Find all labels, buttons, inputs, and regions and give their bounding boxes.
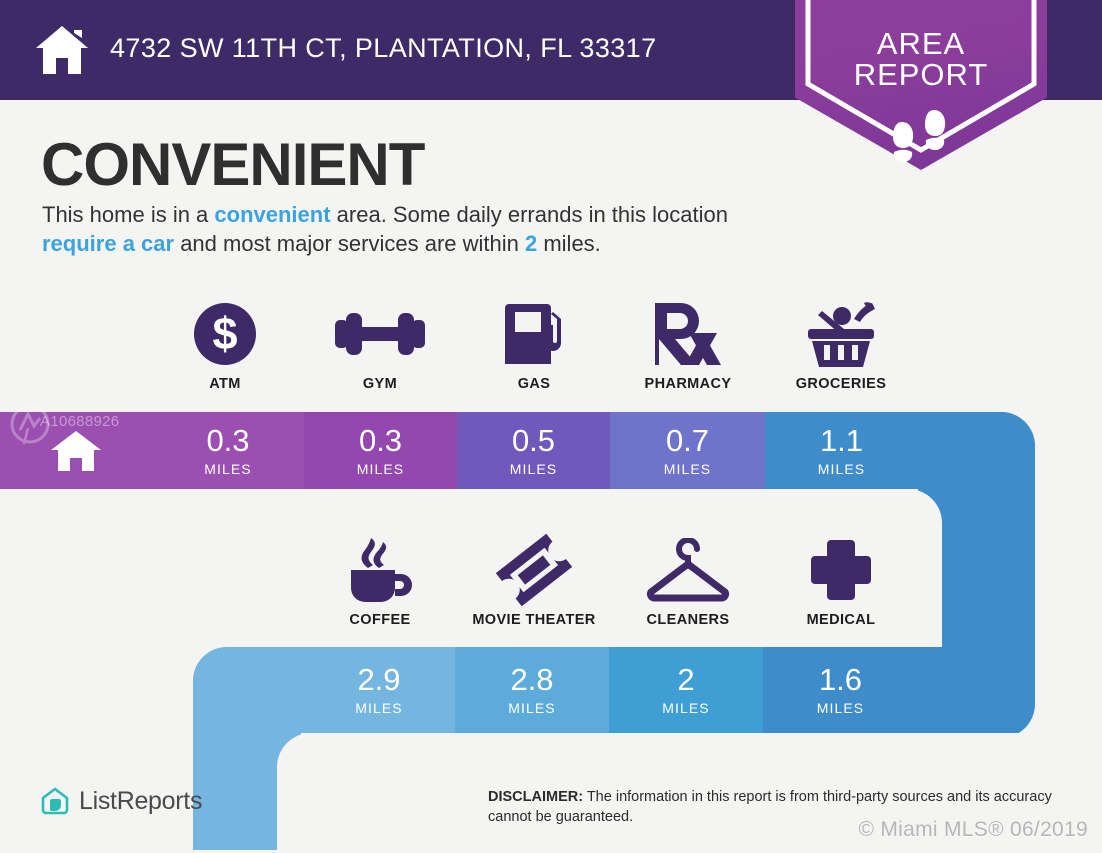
amenity-movie-theater: MOVIE THEATER xyxy=(464,534,604,628)
movie-ticket-icon xyxy=(464,534,604,606)
desc-highlight-require-a-car: require a car xyxy=(42,231,174,256)
amenity-atm: $ ATM xyxy=(155,298,295,392)
desc-part-0: This home is in a xyxy=(42,202,214,227)
dollar-circle-icon: $ xyxy=(155,298,295,370)
coffee-cup-icon xyxy=(310,534,450,606)
amenity-coffee: COFFEE xyxy=(310,534,450,628)
distance-value: 1.6 xyxy=(819,664,862,695)
amenity-label: MEDICAL xyxy=(771,612,911,628)
distance-unit: MILES xyxy=(664,461,712,477)
desc-highlight-miles: 2 xyxy=(525,231,537,256)
amenity-cleaners: CLEANERS xyxy=(618,534,758,628)
distance-segment-gas: 0.5 MILES xyxy=(457,412,610,489)
amenity-gym: GYM xyxy=(310,298,450,392)
distance-value: 0.3 xyxy=(359,425,402,456)
distance-value: 0.7 xyxy=(666,425,709,456)
distance-unit: MILES xyxy=(817,700,865,716)
amenity-label: CLEANERS xyxy=(618,612,758,628)
rx-icon xyxy=(618,298,758,370)
desc-part-4: and most major services are within xyxy=(174,231,525,256)
distance-unit: MILES xyxy=(355,700,403,716)
amenity-label: PHARMACY xyxy=(618,376,758,392)
amenity-label: GYM xyxy=(310,376,450,392)
infographic-page: 4732 SW 11TH CT, PLANTATION, FL 33317 AR… xyxy=(0,0,1102,850)
hanger-icon xyxy=(618,534,758,606)
amenity-gas: GAS xyxy=(464,298,604,392)
amenity-groceries: GROCERIES xyxy=(771,298,911,392)
distance-value: 1.1 xyxy=(820,425,863,456)
amenity-label: MOVIE THEATER xyxy=(464,612,604,628)
fuel-pump-icon xyxy=(464,298,604,370)
distance-bar-row-1: 0.3 MILES 0.3 MILES 0.5 MILES 0.7 MILES … xyxy=(0,412,1035,489)
amenity-label: ATM xyxy=(155,376,295,392)
distance-unit: MILES xyxy=(662,700,710,716)
distance-unit: MILES xyxy=(510,461,558,477)
medical-cross-icon xyxy=(771,534,911,606)
home-icon xyxy=(34,24,90,76)
distance-value: 0.5 xyxy=(512,425,555,456)
property-address: 4732 SW 11TH CT, PLANTATION, FL 33317 xyxy=(110,33,657,64)
distance-value: 0.3 xyxy=(206,425,249,456)
page-title: CONVENIENT xyxy=(41,130,424,199)
distance-unit: MILES xyxy=(357,461,405,477)
amenity-pharmacy: PHARMACY xyxy=(618,298,758,392)
distance-segment-pharmacy: 0.7 MILES xyxy=(610,412,765,489)
distance-unit: MILES xyxy=(508,700,556,716)
mls-watermark: © Miami MLS® 06/2019 xyxy=(858,818,1088,842)
amenity-label: COFFEE xyxy=(310,612,450,628)
distance-segment-movie-theater: 2.8 MILES xyxy=(455,647,609,733)
badge-line-1: AREA xyxy=(795,28,1047,59)
distance-value: 2.8 xyxy=(510,664,553,695)
distance-segment-atm: 0.3 MILES xyxy=(152,412,304,489)
home-icon xyxy=(50,429,102,473)
distance-unit: MILES xyxy=(204,461,252,477)
grocery-basket-icon xyxy=(771,298,911,370)
dumbbell-icon xyxy=(310,298,450,370)
bar2-leading-spacer xyxy=(193,647,303,733)
listing-id-watermark: A10688926 xyxy=(40,413,119,430)
amenity-label: GROCERIES xyxy=(771,376,911,392)
page-description: This home is in a convenient area. Some … xyxy=(42,200,782,258)
listreports-brand: ListReports xyxy=(40,786,202,816)
desc-part-2: area. Some daily errands in this locatio… xyxy=(331,202,728,227)
distance-segment-groceries: 1.1 MILES xyxy=(765,412,1035,489)
badge-title: AREA REPORT xyxy=(795,28,1047,90)
amenity-medical: MEDICAL xyxy=(771,534,911,628)
distance-segment-coffee: 2.9 MILES xyxy=(303,647,455,733)
amenity-label: GAS xyxy=(464,376,604,392)
brand-name: ListReports xyxy=(79,787,202,816)
svg-text:$: $ xyxy=(212,308,237,359)
desc-part-6: miles. xyxy=(537,231,601,256)
listreports-logo-icon xyxy=(40,786,70,816)
distance-value: 2.9 xyxy=(357,664,400,695)
disclaimer-label: DISCLAIMER: xyxy=(488,789,583,805)
distance-segment-medical: 1.6 MILES xyxy=(763,647,1035,733)
distance-segment-gym: 0.3 MILES xyxy=(304,412,457,489)
footprints-icon xyxy=(880,108,960,166)
distance-unit: MILES xyxy=(818,461,866,477)
distance-segment-cleaners: 2 MILES xyxy=(609,647,763,733)
badge-line-2: REPORT xyxy=(795,59,1047,90)
desc-highlight-convenient: convenient xyxy=(214,202,330,227)
distance-value: 2 xyxy=(677,664,694,695)
distance-bar-row-2: 2.9 MILES 2.8 MILES 2 MILES 1.6 MILES xyxy=(193,647,1035,733)
